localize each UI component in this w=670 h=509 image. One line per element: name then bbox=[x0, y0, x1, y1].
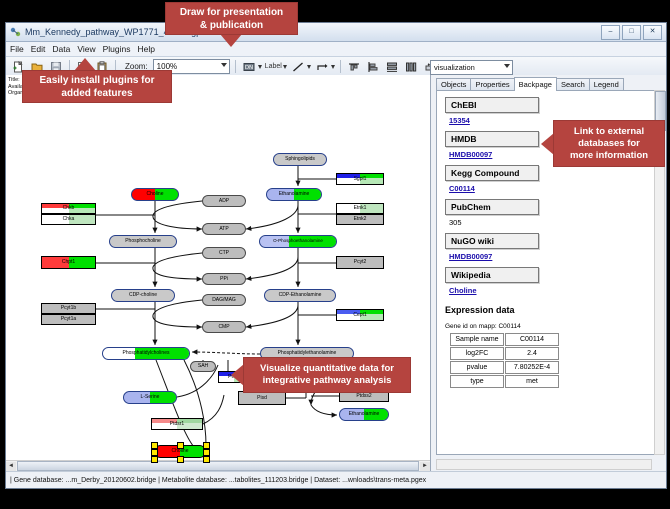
node-label: PPi bbox=[220, 277, 228, 282]
pathway-node-pcyt2[interactable]: Pcyt2 bbox=[336, 256, 384, 269]
node-label: Cept1 bbox=[353, 313, 366, 318]
pubchem-value: 305 bbox=[449, 218, 647, 227]
chevron-down-icon[interactable] bbox=[283, 65, 287, 69]
visualization-combobox[interactable]: visualization bbox=[430, 60, 513, 75]
pathway-node-chka[interactable]: Chka bbox=[41, 214, 96, 225]
pathway-node-atp[interactable]: ATP bbox=[202, 223, 246, 235]
wikipedia-link[interactable]: Choline bbox=[449, 286, 647, 295]
status-bar: | Gene database: ...m_Derby_20120602.bri… bbox=[6, 471, 666, 488]
callout-visualize-line2: integrative pathway analysis bbox=[263, 375, 392, 387]
callout-visualize: Visualize quantitative data for integrat… bbox=[243, 357, 411, 393]
chevron-down-icon bbox=[221, 63, 227, 67]
close-button[interactable]: ✕ bbox=[643, 25, 662, 40]
node-label: Phosphocholine bbox=[125, 239, 161, 244]
pathway-diagram[interactable]: Sphingolipids Sgpl1 Ethanolamine Choline bbox=[6, 75, 430, 471]
node-label: SAH bbox=[198, 364, 208, 369]
section-header-chebi: ChEBI bbox=[445, 97, 539, 113]
tab-backpage[interactable]: Backpage bbox=[514, 77, 557, 91]
pathway-node-sphingolipids[interactable]: Sphingolipids bbox=[273, 153, 327, 166]
backpage-horizontal-scrollbar[interactable] bbox=[436, 459, 652, 470]
node-label: Choline bbox=[172, 449, 189, 454]
node-label: Pisd bbox=[257, 396, 267, 401]
node-label: Chpt1 bbox=[62, 260, 75, 265]
menu-item-edit[interactable]: Edit bbox=[31, 44, 46, 54]
nugo-link[interactable]: HMDB00097 bbox=[449, 252, 647, 261]
selection-handle-w[interactable] bbox=[151, 449, 158, 456]
callout-draw-arrow-icon bbox=[220, 34, 242, 47]
pathway-node-cept1[interactable]: Cept1 bbox=[336, 309, 384, 321]
callout-draw: Draw for presentation & publication bbox=[165, 2, 298, 35]
node-label: Chkb bbox=[63, 206, 75, 211]
menu-item-view[interactable]: View bbox=[77, 44, 95, 54]
callout-plugins-line1: Easily install plugins for bbox=[39, 74, 154, 87]
pathway-node-ppi[interactable]: PPi bbox=[202, 273, 246, 285]
callout-link-line3: more information bbox=[570, 150, 648, 162]
window-controls: – □ ✕ bbox=[601, 25, 662, 40]
pathway-node-chkb[interactable]: Chkb bbox=[41, 203, 96, 214]
scroll-right-arrow[interactable]: ► bbox=[420, 462, 430, 471]
callout-link-line1: Link to external bbox=[574, 126, 644, 138]
node-label: Etnk2 bbox=[354, 217, 367, 222]
title-bar: Mm_Kennedy_pathway_WP1771_45176.gpml – □… bbox=[6, 23, 666, 42]
toolbar-separator-4 bbox=[340, 60, 341, 73]
table-cell-value: met bbox=[505, 375, 559, 388]
menu-item-data[interactable]: Data bbox=[52, 44, 70, 54]
node-label: Phosphatidylcholines bbox=[123, 351, 170, 356]
selection-handle-s[interactable] bbox=[177, 456, 184, 463]
section-header-hmdb: HMDB bbox=[445, 131, 539, 147]
pathway-canvas-pane[interactable]: Title: Availa Organi bbox=[6, 75, 431, 471]
table-cell-key: Sample name bbox=[450, 333, 504, 346]
align-left-icon[interactable] bbox=[365, 59, 381, 75]
node-label: DAG/MAG bbox=[212, 298, 236, 303]
menu-item-file[interactable]: File bbox=[10, 44, 24, 54]
callout-link-line2: databases for bbox=[578, 138, 640, 150]
pathway-node-ctp[interactable]: CTP bbox=[202, 247, 246, 259]
section-header-kegg-compound: Kegg Compound bbox=[445, 165, 539, 181]
section-header-pubchem: PubChem bbox=[445, 199, 539, 215]
node-label: O-Phosphoethanolamine bbox=[273, 239, 323, 244]
pathway-node-pisd[interactable]: Pisd bbox=[238, 391, 286, 405]
pathway-node-choline-top[interactable]: Choline bbox=[131, 188, 179, 201]
connector-icon[interactable] bbox=[314, 59, 330, 75]
line-tool[interactable] bbox=[290, 59, 311, 75]
callout-draw-line2: & publication bbox=[200, 19, 263, 32]
selection-handle-se[interactable] bbox=[203, 456, 210, 463]
table-row: log2FC 2.4 bbox=[450, 347, 559, 360]
distribute-icon[interactable] bbox=[403, 59, 419, 75]
pathway-node-etnk2[interactable]: Etnk2 bbox=[336, 214, 384, 225]
pathway-node-l-serine-left[interactable]: L-Serine bbox=[123, 391, 177, 404]
section-header-wikipedia: Wikipedia bbox=[445, 267, 539, 283]
selection-handle-sw[interactable] bbox=[151, 456, 158, 463]
pathway-node-phosphatidylcholines[interactable]: Phosphatidylcholines bbox=[102, 347, 190, 360]
pathway-node-ethanolamine-bottom[interactable]: Ethanolamine bbox=[339, 408, 389, 421]
chevron-down-icon bbox=[504, 64, 510, 68]
table-cell-key: log2FC bbox=[450, 347, 504, 360]
label-tool[interactable]: Label bbox=[265, 63, 287, 70]
node-label: CDP-Ethanolamine bbox=[279, 293, 322, 298]
pathway-node-cmp[interactable]: CMP bbox=[202, 321, 246, 333]
node-label: Pcyt1a bbox=[61, 317, 76, 322]
status-bar-text: | Gene database: ...m_Derby_20120602.bri… bbox=[10, 477, 426, 484]
maximize-button[interactable]: □ bbox=[622, 25, 641, 40]
scroll-thumb[interactable] bbox=[17, 461, 419, 471]
pathway-node-sgpl1[interactable]: Sgpl1 bbox=[336, 173, 384, 185]
kegg-link[interactable]: C00114 bbox=[449, 184, 647, 193]
table-cell-value: C00114 bbox=[505, 333, 559, 346]
callout-draw-line1: Draw for presentation bbox=[180, 6, 283, 19]
pathway-node-pcyt1a[interactable]: Pcyt1a bbox=[41, 314, 96, 325]
menu-item-help[interactable]: Help bbox=[138, 44, 155, 54]
callout-visualize-line1: Visualize quantitative data for bbox=[260, 363, 394, 375]
canvas-horizontal-scrollbar[interactable]: ◄ ► bbox=[6, 460, 430, 471]
selection-handle-ne[interactable] bbox=[203, 442, 210, 449]
node-label: Sphingolipids bbox=[285, 157, 315, 162]
line-icon[interactable] bbox=[290, 59, 306, 75]
pathway-node-sah-left[interactable]: SAH bbox=[190, 361, 216, 372]
pathway-node-dagmag[interactable]: DAG/MAG bbox=[202, 294, 246, 306]
stack-icon[interactable] bbox=[384, 59, 400, 75]
node-label: L-Serine bbox=[141, 395, 160, 400]
screenshot-root: Mm_Kennedy_pathway_WP1771_45176.gpml – □… bbox=[0, 0, 670, 509]
pathway-node-phosphocholine[interactable]: Phosphocholine bbox=[109, 235, 177, 248]
node-label: Chka bbox=[63, 217, 75, 222]
align-top-icon[interactable] bbox=[346, 59, 362, 75]
callout-plugins: Easily install plugins for added feature… bbox=[22, 70, 172, 103]
scroll-left-arrow[interactable]: ◄ bbox=[6, 462, 16, 471]
pathway-node-cdp-choline[interactable]: CDP-choline bbox=[111, 289, 175, 302]
section-header-nugo-wiki: NuGO wiki bbox=[445, 233, 539, 249]
node-label: Ptdsr1 bbox=[170, 422, 184, 427]
node-label: Pcyt1b bbox=[61, 306, 76, 311]
pathway-node-ethanolamine-top[interactable]: Ethanolamine bbox=[266, 188, 322, 201]
chevron-down-icon[interactable] bbox=[258, 65, 262, 69]
minimize-button[interactable]: – bbox=[601, 25, 620, 40]
chevron-down-icon[interactable] bbox=[331, 65, 335, 69]
callout-link-databases: Link to external databases for more info… bbox=[553, 120, 665, 167]
pathway-node-chpt1[interactable]: Chpt1 bbox=[41, 256, 96, 269]
svg-text:DN: DN bbox=[244, 65, 252, 71]
pathway-node-etnk1[interactable]: Etnk1 bbox=[336, 203, 384, 214]
menu-bar: File Edit Data View Plugins Help bbox=[6, 42, 666, 57]
expression-table: Sample name C00114 log2FC 2.4 pvalue 7.8… bbox=[449, 332, 560, 389]
label-tool-label: Label bbox=[265, 63, 282, 70]
selection-handle-n[interactable] bbox=[177, 442, 184, 449]
app-icon bbox=[10, 27, 21, 38]
toolbar-separator-3 bbox=[235, 60, 236, 73]
node-label: CDP-choline bbox=[129, 293, 157, 298]
node-label: Etnk1 bbox=[354, 206, 367, 211]
pathway-node-ptdsr1[interactable]: Ptdsr1 bbox=[151, 418, 203, 430]
node-label: Choline bbox=[147, 192, 164, 197]
node-label: Ethanolamine bbox=[279, 192, 310, 197]
gene-id-line: Gene id on mapp: C00114 bbox=[445, 323, 647, 330]
node-label: Ptdss2 bbox=[356, 394, 371, 399]
menu-item-plugins[interactable]: Plugins bbox=[103, 44, 131, 54]
connector-tool[interactable] bbox=[314, 59, 335, 75]
table-row: type met bbox=[450, 375, 559, 388]
pathway-node-pcyt1b[interactable]: Pcyt1b bbox=[41, 303, 96, 314]
pathway-node-cdp-ethanolamine[interactable]: CDP-Ethanolamine bbox=[264, 289, 336, 302]
node-label: CMP bbox=[218, 325, 229, 330]
datanode-icon[interactable]: DN bbox=[241, 59, 257, 75]
node-label: ATP bbox=[219, 227, 228, 232]
table-row: Sample name C00114 bbox=[450, 333, 559, 346]
pathway-node-adp[interactable]: ADP bbox=[202, 195, 246, 207]
node-label: CTP bbox=[219, 251, 229, 256]
node-label: Sgpl1 bbox=[354, 177, 367, 182]
expression-data-title: Expression data bbox=[445, 305, 647, 315]
callout-plugins-line2: added features bbox=[61, 87, 132, 100]
selection-handle-e[interactable] bbox=[203, 449, 210, 456]
node-label: ADP bbox=[219, 199, 229, 204]
visualization-value: visualization bbox=[434, 63, 475, 72]
table-cell-key: pvalue bbox=[450, 361, 504, 374]
node-label: Pcyt2 bbox=[354, 260, 367, 265]
selection-handle-nw[interactable] bbox=[151, 442, 158, 449]
node-label: Ethanolamine bbox=[349, 412, 380, 417]
table-row: pvalue 7.80252E-4 bbox=[450, 361, 559, 374]
table-cell-key: type bbox=[450, 375, 504, 388]
node-label: Phosphatidylethanolamine bbox=[278, 351, 337, 356]
table-cell-value: 2.4 bbox=[505, 347, 559, 360]
chevron-down-icon[interactable] bbox=[307, 65, 311, 69]
datanode-tool[interactable]: DN bbox=[241, 59, 262, 75]
pathway-node-o-phosphoethanolamine[interactable]: O-Phosphoethanolamine bbox=[259, 235, 337, 248]
table-cell-value: 7.80252E-4 bbox=[505, 361, 559, 374]
